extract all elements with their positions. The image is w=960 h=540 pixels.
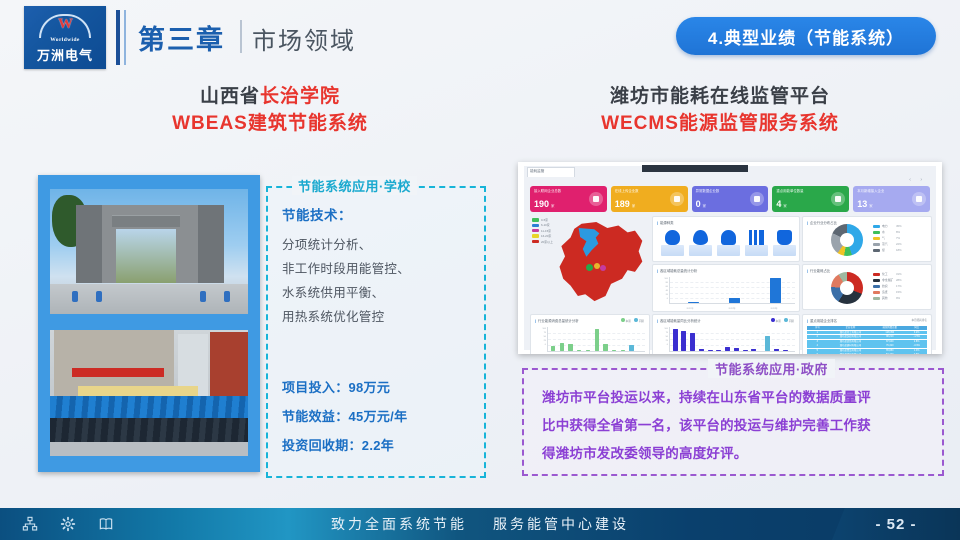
chapter-separator — [240, 20, 242, 53]
x-tick: 2022年 — [728, 306, 735, 310]
card-title: 行业能源消费总量统计分析 — [535, 318, 579, 323]
legend-label: 水 — [882, 230, 896, 234]
card-title: 能源种类 — [657, 220, 674, 225]
donut-legend: 电力45% 水8% 气7% 蒸汽22% 煤18% — [873, 224, 902, 254]
cell-consumption: 76,320 — [873, 344, 906, 348]
legend-value: 31% — [896, 272, 902, 276]
section-badge-label: 4.典型业绩（节能系统） — [708, 24, 904, 49]
cell-consumption: 87,640 — [873, 340, 906, 344]
water-icon[interactable] — [689, 230, 712, 256]
kpi-card[interactable]: 接入联网企业总数 190家 — [530, 186, 607, 212]
header-divider-thin — [124, 10, 126, 65]
dashboard-pager-icon[interactable]: ‹ › — [909, 177, 926, 183]
table-row[interactable]: 3 潍坊某造纸有限公司 87,640 2.8% — [807, 340, 927, 344]
bar — [568, 344, 572, 351]
top-consumers-table-card[interactable]: 重点用能企业排名 本月能耗排名 序号 企业名称 能源消费总量 同比 1 潍坊某化… — [802, 314, 932, 354]
footer-slogan-right: 服务能管中心建设 — [493, 514, 629, 534]
card-title: 重点用能企业排名 — [807, 318, 837, 323]
region-yoy-bar-card[interactable]: 各区域能耗量同比分析统计 本期 同期 1007550250 — [652, 314, 800, 354]
tech-item: 水系统供用平衡、 — [282, 281, 474, 305]
page-number: - 52 - — [875, 516, 916, 533]
legend-value: 17% — [896, 284, 902, 288]
legend-label: 本期 — [776, 320, 781, 323]
kpi-value: 0 — [696, 199, 701, 209]
x-axis-labels: 2021年 2022年 2023年 — [669, 306, 795, 310]
table-row[interactable]: 6 潍坊某机械有限公司 54,270 0.6% — [807, 353, 927, 354]
cell-index: 6 — [807, 353, 828, 354]
left-case-title: 山西省长治学院 WBEAS建筑节能系统 — [70, 84, 470, 138]
kpi-unit: 家 — [632, 204, 635, 208]
card-title: 行业能耗占比 — [807, 268, 830, 273]
cell-yoy: 1.4% — [906, 349, 927, 353]
map-legend-label: 20家以上 — [541, 240, 553, 244]
legend-label: 煤 — [882, 248, 896, 252]
card-title: 企业行业分布占比 — [807, 220, 837, 225]
legend-label: 气 — [882, 236, 896, 240]
achievement-line: 得潍坊市发改委领导的高度好评。 — [542, 440, 926, 468]
page-header: W Worldwide 万洲电气 第三章 市场领域 4.典型业绩（节能系统） — [0, 0, 960, 76]
legend-value: 22% — [896, 242, 902, 246]
legend-value: 8% — [896, 230, 900, 234]
legend-value: 28% — [896, 278, 902, 282]
chapter-title: 第三章 — [138, 18, 225, 57]
chapter-subtitle: 市场领域 — [252, 21, 356, 56]
kpi-chart-icon — [912, 192, 926, 206]
map-legend-label: 0-5家 — [541, 218, 548, 222]
kpi-value: 190 — [534, 199, 549, 209]
legend-label: 本期 — [626, 320, 631, 323]
right-info-box: 潍坊市平台投运以来，持续在山东省平台的数据质量评 比中获得全省第一名，该平台的投… — [522, 368, 944, 476]
cell-company: 潍坊某食品有限公司 — [828, 349, 874, 353]
bar-plot-area — [547, 327, 645, 352]
chart-legend: 本期 同期 — [621, 318, 644, 323]
bar — [725, 347, 730, 351]
header-divider-thick — [116, 10, 120, 65]
legend-label: 电力 — [882, 224, 896, 228]
column-header: 企业名称 — [828, 326, 874, 330]
dashboard-tab-label: 能耗监管 — [530, 169, 544, 174]
dashboard-screenshot: 能耗监管 ‹ › 接入联网企业总数 190家 在线上传企业数 189家 异常数据… — [518, 162, 942, 354]
kpi-value: 4 — [776, 199, 781, 209]
right-info-box-label: 节能系统应用·政府 — [708, 359, 835, 378]
cell-company: 潍坊某造纸有限公司 — [828, 340, 874, 344]
table-row[interactable]: 2 潍坊某纺织有限公司 98,210 -1.5% — [807, 335, 927, 339]
cell-yoy: -1.5% — [906, 335, 927, 339]
cell-yoy: -0.9% — [906, 344, 927, 348]
table-header-row: 序号 企业名称 能源消费总量 同比 — [807, 326, 927, 330]
bar — [699, 349, 704, 351]
donut-chart — [831, 224, 863, 256]
right-title-system: WECMS能源监管服务系统 — [500, 110, 940, 138]
kpi-value: 189 — [615, 199, 630, 209]
section-badge: 4.典型业绩（节能系统） — [676, 17, 936, 55]
table-row[interactable]: 4 潍坊某建材有限公司 76,320 -0.9% — [807, 344, 927, 348]
legend-label: 化工 — [882, 272, 896, 276]
kpi-card[interactable]: 重点用能单位数量 4家 — [772, 186, 849, 212]
bar — [603, 344, 607, 351]
bar — [690, 333, 695, 351]
dashboard-titlebar — [642, 165, 748, 172]
bar — [688, 302, 699, 303]
left-title-system: WBEAS建筑节能系统 — [70, 110, 470, 138]
cell-company: 潍坊某纺织有限公司 — [828, 335, 874, 339]
table-row[interactable]: 1 潍坊某化工有限公司 128,450 3.2% — [807, 331, 927, 335]
region-energy-bar-card[interactable]: 各区域能耗总量统计分析 100806040200 2021年 2022年 202… — [652, 264, 800, 312]
cell-index: 3 — [807, 340, 828, 344]
bar — [708, 350, 713, 351]
chart-legend: 本期 同期 — [771, 318, 794, 323]
bar — [629, 345, 633, 351]
bar — [729, 298, 740, 303]
map-marker[interactable] — [600, 265, 606, 271]
page-number-tab: - 52 - — [832, 508, 960, 540]
kpi-chart-icon — [750, 192, 764, 206]
bar — [577, 350, 581, 351]
legend-value: 45% — [896, 224, 902, 228]
gas-icon[interactable] — [717, 230, 740, 256]
cell-consumption: 65,880 — [873, 349, 906, 353]
kpi-unit: 家 — [869, 204, 872, 208]
filter-option[interactable]: 本月能耗排名 — [911, 319, 927, 322]
cell-consumption: 98,210 — [873, 335, 906, 339]
bar — [551, 346, 555, 351]
achievement-line: 比中获得全省第一名，该平台的投运与维护完善工作获 — [542, 412, 926, 440]
bar — [673, 329, 678, 351]
bar — [716, 350, 721, 351]
map-legend-label: 11-15家 — [541, 229, 551, 233]
data-table: 序号 企业名称 能源消费总量 同比 1 潍坊某化工有限公司 128,450 3.… — [807, 326, 927, 354]
x-tick: 2023年 — [770, 306, 777, 310]
industry-energy-donut-card[interactable]: 行业能耗占比 化工31% 非金属矿28% 纺织17% 造纸15% 其他9% — [802, 264, 932, 310]
energy-type-card[interactable]: 能源种类 — [652, 216, 800, 262]
bar — [734, 348, 739, 351]
page-footer: 致力全面系统节能 服务能管中心建设 - 52 - — [0, 508, 960, 540]
stat-investment: 项目投入：98万元 — [282, 373, 407, 402]
column-header: 同比 — [906, 326, 927, 330]
donut-chart — [831, 272, 863, 304]
y-axis-labels: 100806040200 — [656, 277, 668, 302]
legend-label: 蒸汽 — [882, 242, 896, 246]
bar-plot-area — [669, 277, 795, 304]
footer-slogan-left: 致力全面系统节能 — [331, 514, 467, 534]
table-filter-toggle[interactable]: 本月能耗排名 — [911, 318, 927, 322]
heat-icon[interactable] — [745, 230, 768, 256]
legend-value: 7% — [896, 236, 900, 240]
cell-index: 1 — [807, 331, 828, 335]
bar-plot-area — [669, 327, 795, 352]
bar — [751, 349, 756, 351]
legend-value: 15% — [896, 290, 902, 294]
kpi-card[interactable]: 本月新增接入企业 13家 — [853, 186, 930, 212]
cell-consumption: 54,270 — [873, 353, 906, 354]
left-photo-frame — [38, 175, 260, 472]
cell-company: 潍坊某机械有限公司 — [828, 353, 874, 354]
stat-payback: 投资回收期：2.2年 — [282, 431, 407, 460]
kpi-card[interactable]: 异常数据企业数 0家 — [692, 186, 769, 212]
kpi-unit: 家 — [703, 204, 706, 208]
legend-value: 18% — [896, 248, 902, 252]
tech-heading: 节能技术： — [282, 204, 474, 224]
bar — [586, 350, 590, 351]
bar — [765, 336, 770, 351]
logo-emblem-icon: W — [39, 12, 91, 36]
column-header: 能源消费总量 — [873, 326, 906, 330]
bar — [774, 349, 779, 351]
campus-gate-photo — [50, 189, 248, 314]
tech-item: 分项统计分析、 — [282, 233, 474, 257]
tech-item: 用热系统优化管控 — [282, 305, 474, 329]
cell-index: 5 — [807, 349, 828, 353]
map-legend: 0-5家 6-10家 11-15家 16-20家 20家以上 — [532, 218, 558, 245]
left-info-box: 节能技术： 分项统计分析、 非工作时段用能管控、 水系统供用平衡、 用热系统优化… — [266, 186, 486, 478]
cell-consumption: 128,450 — [873, 331, 906, 335]
legend-label: 其他 — [882, 296, 896, 300]
map-marker[interactable] — [586, 264, 593, 271]
map-legend-label: 16-20家 — [541, 234, 551, 238]
legend-label: 同期 — [789, 320, 794, 323]
x-tick: 2021年 — [686, 306, 693, 310]
bar — [681, 331, 686, 351]
logo-letter: W — [39, 16, 91, 33]
kpi-unit: 家 — [551, 204, 554, 208]
bar — [621, 350, 625, 351]
cell-yoy: 2.8% — [906, 340, 927, 344]
legend-label: 造纸 — [882, 290, 896, 294]
bar — [770, 278, 781, 303]
tech-item: 非工作时段用能管控、 — [282, 257, 474, 281]
legend-label: 非金属矿 — [882, 278, 896, 282]
kpi-chart-icon — [670, 192, 684, 206]
y-axis-labels: 1007550250 — [656, 327, 668, 347]
coal-icon[interactable] — [773, 230, 796, 256]
campus-ceremony-photo — [50, 330, 248, 456]
map-legend-label: 6-10家 — [541, 223, 550, 227]
left-title-region: 山西省 — [200, 86, 260, 107]
legend-label: 同期 — [639, 320, 644, 323]
kpi-card[interactable]: 在线上传企业数 189家 — [611, 186, 688, 212]
achievement-line: 潍坊市平台投运以来，持续在山东省平台的数据质量评 — [542, 384, 926, 412]
kpi-chart-icon — [831, 192, 845, 206]
bar — [595, 329, 599, 351]
cell-yoy: 3.2% — [906, 331, 927, 335]
region-map-card[interactable]: 0-5家 6-10家 11-15家 16-20家 20家以上 — [530, 216, 648, 310]
cell-yoy: 0.6% — [906, 353, 927, 354]
bar — [743, 350, 748, 351]
card-title: 各区域能耗总量统计分析 — [657, 268, 697, 273]
cell-company: 潍坊某建材有限公司 — [828, 344, 874, 348]
industry-share-donut-card[interactable]: 企业行业分布占比 电力45% 水8% 气7% 蒸汽22% 煤18% — [802, 216, 932, 262]
cell-index: 4 — [807, 344, 828, 348]
left-info-box-label: 节能系统应用·学校 — [292, 176, 417, 195]
right-case-title: 潍坊市能耗在线监管平台 WECMS能源监管服务系统 — [500, 84, 940, 138]
kpi-value: 13 — [857, 199, 867, 209]
stat-savings: 节能效益：45万元/年 — [282, 402, 407, 431]
kpi-unit: 家 — [783, 204, 786, 208]
company-logo: W Worldwide 万洲电气 — [24, 6, 106, 69]
logo-chinese: 万洲电气 — [37, 45, 93, 64]
kpi-row: 接入联网企业总数 190家 在线上传企业数 189家 异常数据企业数 0家 重点… — [530, 186, 930, 212]
bar — [783, 350, 788, 351]
legend-value: 9% — [896, 296, 900, 300]
y-axis-labels: 1007550250 — [534, 327, 546, 347]
cell-index: 2 — [807, 335, 828, 339]
bar — [560, 343, 564, 351]
cell-company: 潍坊某化工有限公司 — [828, 331, 874, 335]
left-title-school: 长治学院 — [260, 86, 340, 107]
bar — [612, 350, 616, 351]
donut-legend: 化工31% 非金属矿28% 纺织17% 造纸15% 其他9% — [873, 272, 902, 302]
kpi-chart-icon — [589, 192, 603, 206]
right-title-platform: 潍坊市能耗在线监管平台 — [610, 86, 830, 107]
column-header: 序号 — [807, 326, 828, 330]
legend-label: 纺织 — [882, 284, 896, 288]
card-title: 各区域能耗量同比分析统计 — [657, 318, 701, 323]
industry-consumption-bar-card[interactable]: 行业能源消费总量统计分析 本期 同期 1007550250 — [530, 314, 650, 354]
table-row[interactable]: 5 潍坊某食品有限公司 65,880 1.4% — [807, 349, 927, 353]
electricity-icon[interactable] — [661, 230, 684, 256]
